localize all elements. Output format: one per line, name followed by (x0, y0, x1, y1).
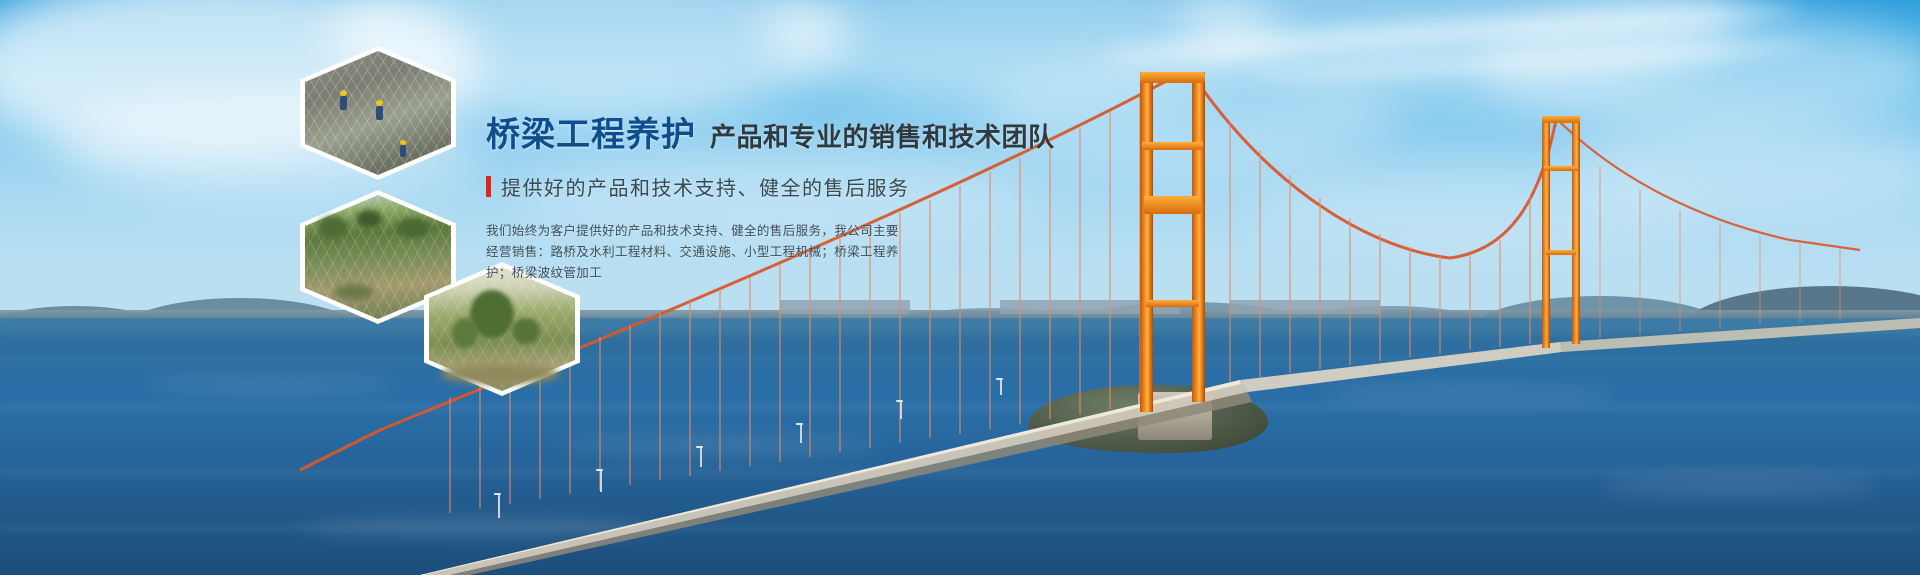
street-lamp (498, 494, 500, 518)
bridge-tower-near-left-leg (1140, 72, 1153, 412)
street-lamp-head (996, 378, 1003, 380)
hex-photo-2-tree (396, 218, 430, 238)
bridge-tower-far-left-leg (1542, 116, 1550, 348)
bridge-tower-cap (1140, 72, 1205, 83)
bridge-tower-crossbeam (1142, 142, 1203, 150)
banner-description: 我们始终为客户提供好的产品和技术支持、健全的售后服务，我公司主要经营销售：路桥及… (486, 221, 906, 284)
street-lamp-head (796, 423, 803, 425)
banner-text-block: 桥梁工程养护 产品和专业的销售和技术团队 提供好的产品和技术支持、健全的售后服务… (486, 118, 1106, 284)
bridge-tower-crossbeam (1146, 300, 1199, 307)
street-lamp-head (696, 446, 703, 448)
red-accent-bar-icon (486, 176, 491, 197)
bridge-tower-near-right-leg (1192, 72, 1205, 402)
banner-subheading: 提供好的产品和技术支持、健全的售后服务 (501, 172, 910, 201)
bridge-structure (0, 0, 1920, 575)
bridge-cables (0, 0, 1920, 575)
street-lamp-head (896, 400, 903, 402)
bridge-tower-far-crossbeam (1544, 166, 1578, 171)
banner-headline: 桥梁工程养护 产品和专业的销售和技术团队 (486, 118, 1106, 152)
street-lamp-head (494, 493, 501, 495)
hex-photo-2-tree (318, 216, 348, 238)
hex-photo-3-shrub (512, 318, 540, 344)
headline-primary: 桥梁工程养护 (486, 118, 696, 152)
bridge-tower-sign-plate (1144, 196, 1201, 214)
hex-photo-2-shrub (334, 284, 374, 300)
bridge-tower-far-right-leg (1572, 116, 1580, 344)
street-lamp-head (596, 469, 603, 471)
banner-subheading-row: 提供好的产品和技术支持、健全的售后服务 (486, 172, 1106, 201)
bridge-tower-far-crossbeam (1546, 250, 1576, 255)
hero-banner: 桥梁工程养护 产品和专业的销售和技术团队 提供好的产品和技术支持、健全的售后服务… (0, 0, 1920, 575)
hex-photo-3-ground (440, 364, 560, 384)
street-lamp (800, 424, 802, 443)
bridge-tower-far-cap (1542, 116, 1580, 123)
street-lamp (900, 401, 902, 419)
headline-secondary: 产品和专业的销售和技术团队 (710, 124, 1055, 152)
street-lamp (600, 470, 602, 492)
street-lamp (700, 447, 702, 467)
street-lamp (1000, 379, 1002, 395)
hex-photo-2-tree (356, 210, 382, 228)
hex-photo-3-shrub (452, 318, 478, 348)
